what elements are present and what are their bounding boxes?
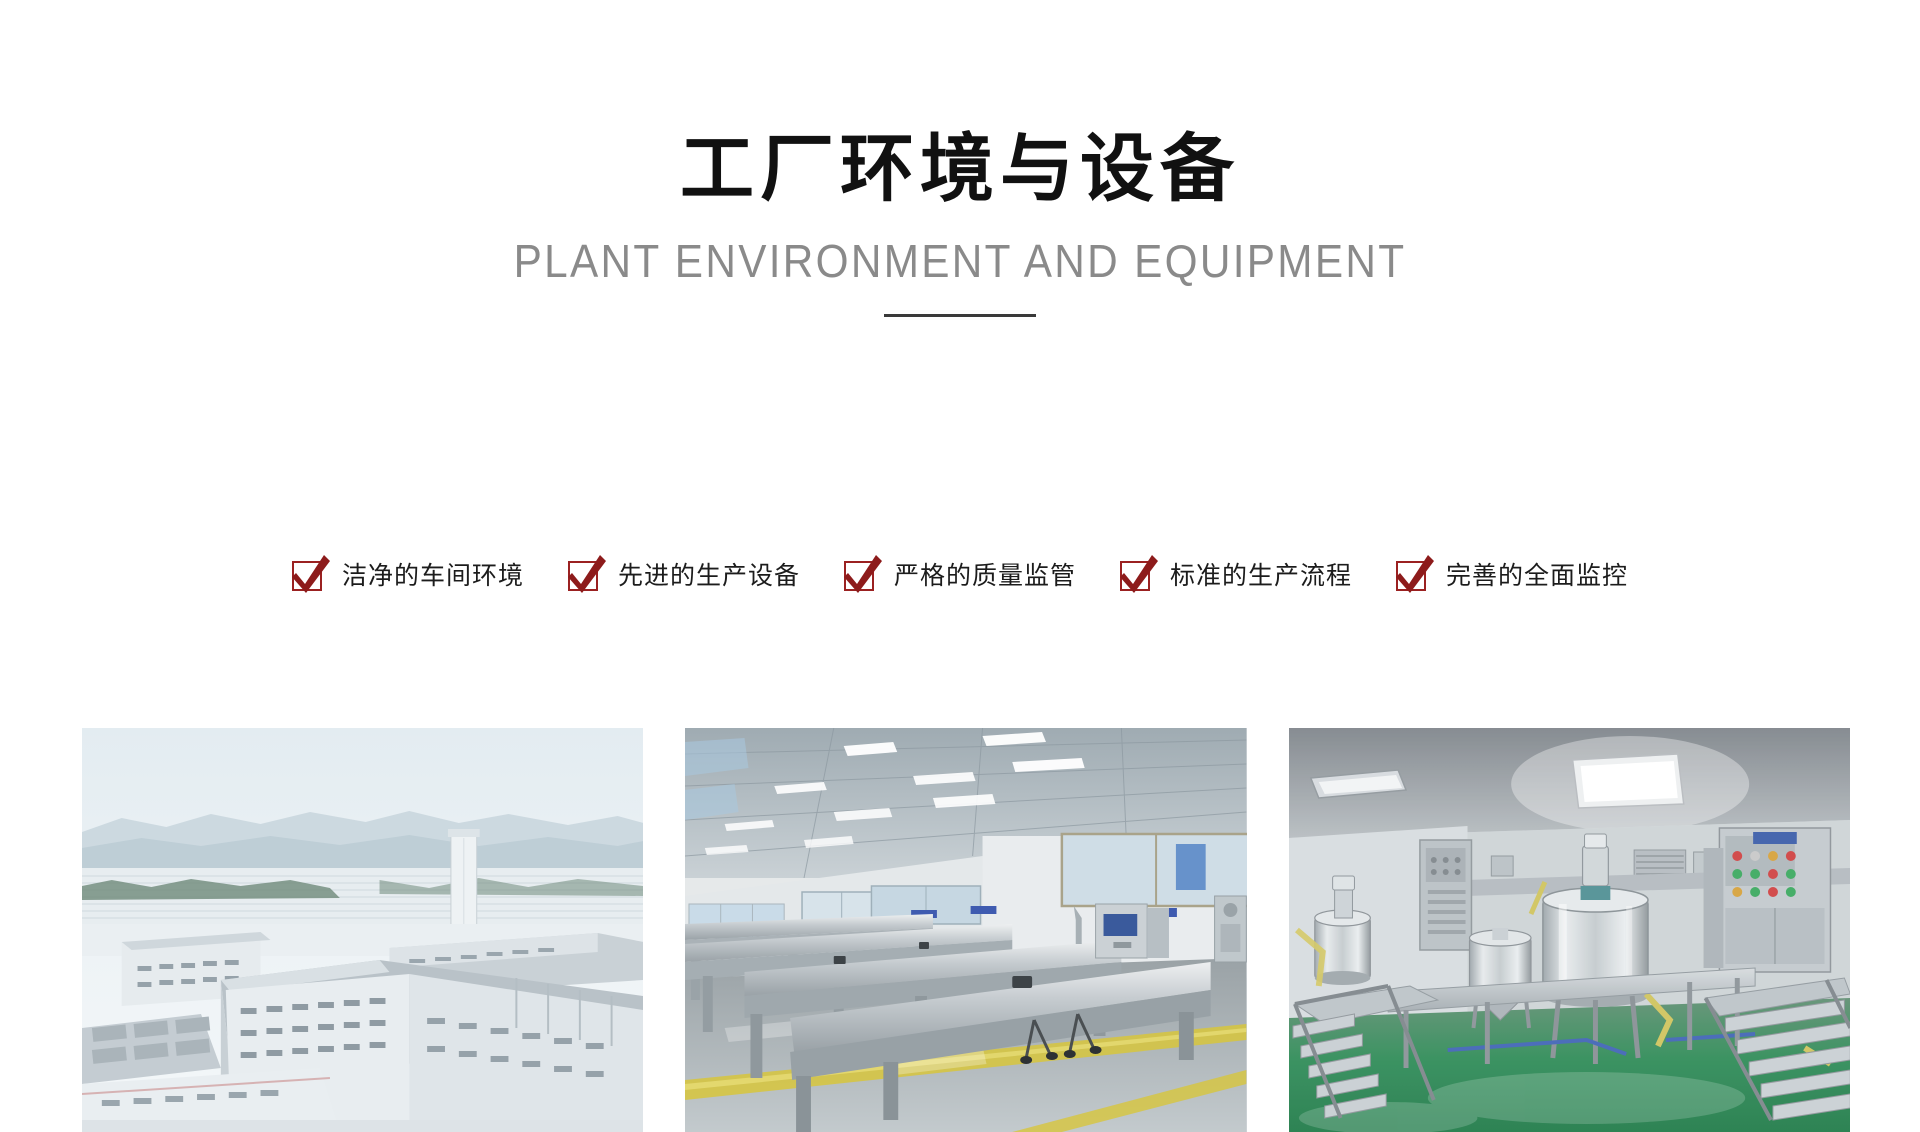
feature-label: 洁净的车间环境 [342, 556, 524, 592]
checkbox-checked-icon [568, 557, 602, 591]
production-equipment-photo[interactable] [1289, 728, 1850, 1132]
feature-label: 完善的全面监控 [1446, 556, 1628, 592]
feature-item-full-monitoring[interactable]: 完善的全面监控 [1374, 556, 1650, 592]
feature-label: 先进的生产设备 [618, 556, 800, 592]
page-subtitle: PLANT ENVIRONMENT AND EQUIPMENT [77, 238, 1843, 284]
factory-aerial-photo[interactable] [82, 728, 643, 1132]
feature-item-advanced-equipment[interactable]: 先进的生产设备 [546, 556, 822, 592]
cleanroom-workshop-photo[interactable] [685, 728, 1246, 1132]
title-divider [884, 314, 1036, 317]
feature-item-standard-process[interactable]: 标准的生产流程 [1098, 556, 1374, 592]
feature-item-clean-workshop[interactable]: 洁净的车间环境 [270, 556, 546, 592]
checkbox-checked-icon [292, 557, 326, 591]
page-title: 工厂环境与设备 [0, 132, 1920, 206]
checkbox-checked-icon [1120, 557, 1154, 591]
title-divider-wrap [0, 314, 1920, 317]
feature-list: 洁净的车间环境 先进的生产设备 严格的质量监管 标准的生产流程 [0, 556, 1920, 592]
checkbox-checked-icon [844, 557, 878, 591]
photo-gallery [82, 728, 1850, 1132]
feature-label: 严格的质量监管 [894, 556, 1076, 592]
feature-item-strict-quality[interactable]: 严格的质量监管 [822, 556, 1098, 592]
checkbox-checked-icon [1396, 557, 1430, 591]
page-header: 工厂环境与设备 PLANT ENVIRONMENT AND EQUIPMENT [0, 0, 1920, 317]
feature-label: 标准的生产流程 [1170, 556, 1352, 592]
